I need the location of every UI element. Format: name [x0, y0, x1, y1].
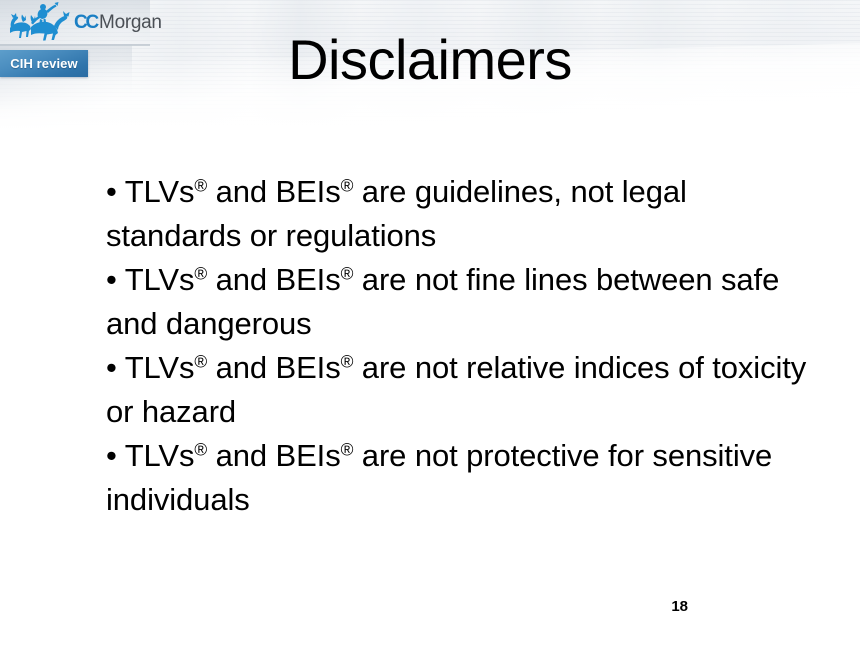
list-item: • TLVs® and BEIs® are guidelines, not le…	[106, 170, 818, 258]
registered-mark-icon: ®	[341, 263, 354, 283]
bullet-list: • TLVs® and BEIs® are guidelines, not le…	[106, 170, 818, 522]
bullet-text-pre: TLVs	[125, 438, 195, 473]
ccmorgan-wordmark: CCMorgan	[74, 13, 162, 32]
bullet-text-pre: TLVs	[125, 350, 195, 385]
registered-mark-icon: ®	[341, 439, 354, 459]
list-item: • TLVs® and BEIs® are not fine lines bet…	[106, 258, 818, 346]
logo-cc-text: CC	[74, 12, 97, 33]
bullet-text-mid: and BEIs	[207, 438, 341, 473]
page-title: Disclaimers	[0, 32, 860, 88]
bullet-marker: •	[106, 350, 117, 385]
registered-mark-icon: ®	[194, 263, 207, 283]
page-number: 18	[0, 598, 688, 615]
bullet-marker: •	[106, 174, 117, 209]
bullet-marker: •	[106, 438, 117, 473]
bullet-text-mid: and BEIs	[207, 350, 341, 385]
banner-bottom-fade	[0, 106, 860, 132]
registered-mark-icon: ®	[341, 175, 354, 195]
bullet-text-mid: and BEIs	[207, 174, 341, 209]
bullet-text-mid: and BEIs	[207, 262, 341, 297]
registered-mark-icon: ®	[194, 175, 207, 195]
registered-mark-icon: ®	[194, 351, 207, 371]
bullet-text-pre: TLVs	[125, 174, 195, 209]
list-item: • TLVs® and BEIs® are not relative indic…	[106, 346, 818, 434]
bullet-text-pre: TLVs	[125, 262, 195, 297]
bullet-marker: •	[106, 262, 117, 297]
registered-mark-icon: ®	[341, 351, 354, 371]
logo-morgan-text: Morgan	[99, 12, 162, 33]
list-item: • TLVs® and BEIs® are not protective for…	[106, 434, 818, 522]
slide: CCMorgan CIH review Disclaimers • TLVs® …	[0, 0, 860, 650]
registered-mark-icon: ®	[194, 439, 207, 459]
